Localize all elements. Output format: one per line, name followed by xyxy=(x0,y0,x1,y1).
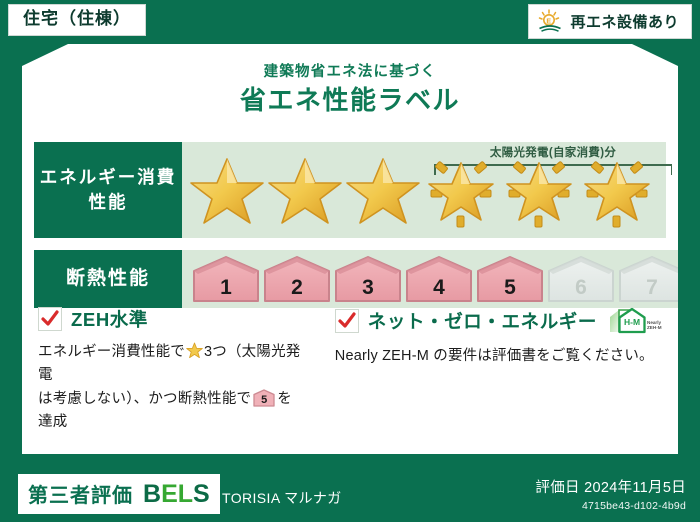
net-zero-claim-header: ネット・ゼロ・エネルギー H-M Nearly ZEH-M xyxy=(335,306,662,336)
insulation-level-value: 2 xyxy=(263,277,331,298)
title-main: 省エネ性能ラベル xyxy=(22,86,678,116)
insulation-level-value: 6 xyxy=(547,277,615,298)
insulation-performance-key: 断熱性能 xyxy=(34,250,182,308)
zeh-claim-title: ZEH水準 xyxy=(71,306,148,332)
star-rating xyxy=(188,150,656,230)
energy-performance-value: 太陽光発電(自家消費)分 xyxy=(182,142,666,238)
title-subtitle: 建築物省エネ法に基づく xyxy=(22,64,678,81)
checkmark-icon xyxy=(38,307,62,331)
net-zero-claim-title: ネット・ゼロ・エネルギー xyxy=(368,308,597,334)
bels-letter-s: S xyxy=(193,480,210,508)
bels-letter-b: B xyxy=(143,480,161,508)
net-zero-claim-body: Nearly ZEH-M の要件は評価書をご覧ください。 xyxy=(335,345,662,368)
insulation-level-badge: 4 xyxy=(405,255,473,303)
star-icon xyxy=(266,150,344,230)
third-party-label: 第三者評価 xyxy=(28,479,133,508)
organization-name: TORISIA マルナガ xyxy=(222,488,342,508)
insulation-level-badge-inactive: 6 xyxy=(547,255,615,303)
star-icon xyxy=(344,150,422,230)
insulation-level-value: 5 xyxy=(476,277,544,298)
insulation-house-value: 5 xyxy=(253,395,275,406)
insulation-level-badge: 1 xyxy=(192,255,260,303)
insulation-level-badge: 3 xyxy=(334,255,402,303)
star-icon-solar xyxy=(578,150,656,230)
insulation-house-icon: 5 xyxy=(253,389,275,407)
insulation-level-value: 3 xyxy=(334,277,402,298)
svg-text:ZEH-M: ZEH-M xyxy=(647,325,662,330)
energy-performance-key: エネルギー消費性能 xyxy=(34,142,182,238)
star-icon xyxy=(188,150,266,230)
insulation-level-scale: 1 2 xyxy=(192,255,686,303)
star-icon-solar xyxy=(422,150,500,230)
zeh-claim-header: ZEH水準 xyxy=(38,306,303,332)
checkmark-icon xyxy=(335,309,359,333)
renewable-badge-label: 再エネ設備あり xyxy=(570,11,679,32)
claims-section: ZEH水準 エネルギー消費性能で3つ（太陽光発電 は考慮しない）、かつ断熱性能で… xyxy=(38,306,662,435)
insulation-level-value: 1 xyxy=(192,277,260,298)
label-panel: 建築物省エネ法に基づく 省エネ性能ラベル エネルギー消費性能 太陽光発電(自家消… xyxy=(22,44,678,454)
title-block: 建築物省エネ法に基づく 省エネ性能ラベル xyxy=(22,44,678,116)
evaluation-date: 評価日 2024年11月5日 xyxy=(535,476,686,497)
insulation-level-value: 4 xyxy=(405,277,473,298)
zeh-body-part3: は考慮しない）、かつ断熱性能で xyxy=(38,391,251,407)
bracket-right-tick xyxy=(671,164,673,175)
net-zero-claim: ネット・ゼロ・エネルギー H-M Nearly ZEH-M xyxy=(317,306,662,435)
energy-performance-row: エネルギー消費性能 太陽光発電(自家消費)分 xyxy=(34,142,666,238)
third-party-evaluation-block: 第三者評価 BELS xyxy=(18,474,220,514)
insulation-performance-row: 断熱性能 1 xyxy=(34,250,666,308)
zeh-claim: ZEH水準 エネルギー消費性能で3つ（太陽光発電 は考慮しない）、かつ断熱性能で… xyxy=(38,306,303,435)
star-icon-solar xyxy=(500,150,578,230)
building-type-label: 住宅（住棟） xyxy=(23,9,131,28)
insulation-level-badge-inactive: 7 xyxy=(618,255,686,303)
bels-letter-e: E xyxy=(161,480,178,508)
bels-logo: BELS xyxy=(143,482,210,507)
insulation-level-badge: 2 xyxy=(263,255,331,303)
svg-text:E: E xyxy=(547,18,552,25)
insulation-performance-value: 1 2 xyxy=(182,250,686,308)
renewable-equipment-badge: E 再エネ設備あり xyxy=(528,4,692,39)
ratings-section: エネルギー消費性能 太陽光発電(自家消費)分 xyxy=(34,142,666,320)
energy-label-root: 住宅（住棟） E 再エネ設備あり 建築物省エネ法に基づく 省エネ性能ラベル xyxy=(0,0,700,522)
evaluation-meta: 評価日 2024年11月5日 4715be43-d102-4b9d xyxy=(535,476,686,512)
zeh-m-house-logo: H-M Nearly ZEH-M xyxy=(606,306,662,336)
insulation-level-value: 7 xyxy=(618,277,686,298)
gold-star-icon xyxy=(186,342,203,359)
zeh-claim-body: エネルギー消費性能で3つ（太陽光発電 は考慮しない）、かつ断熱性能で5を達成 xyxy=(38,341,303,435)
insulation-level-badge: 5 xyxy=(476,255,544,303)
building-type-tag: 住宅（住棟） xyxy=(8,4,146,36)
solar-sun-icon: E xyxy=(537,9,563,33)
svg-text:H-M: H-M xyxy=(624,317,640,327)
zeh-body-part1: エネルギー消費性能で xyxy=(38,344,185,360)
bels-letter-l: L xyxy=(178,480,193,508)
document-id: 4715be43-d102-4b9d xyxy=(535,500,686,512)
